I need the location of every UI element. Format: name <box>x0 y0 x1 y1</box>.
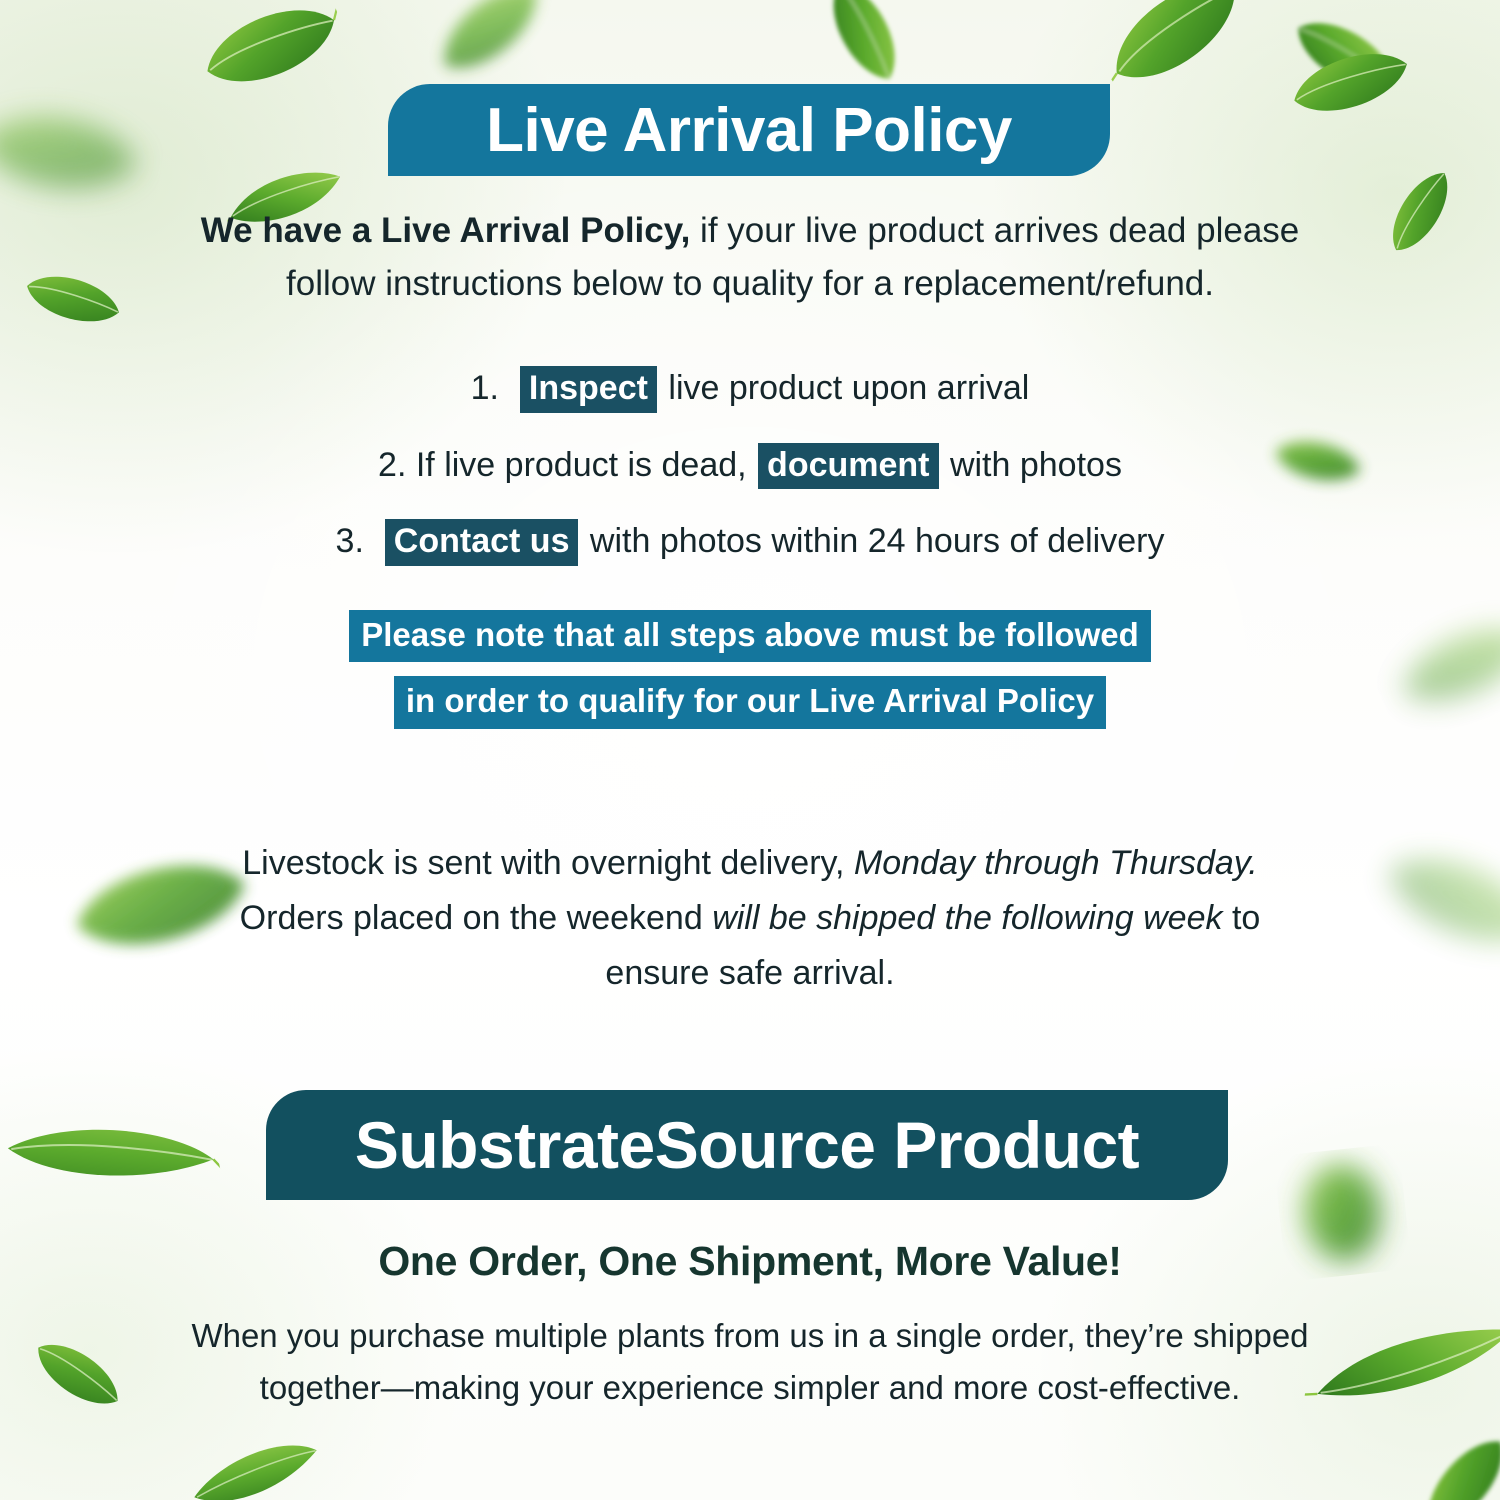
policy-note-row-1: Please note that all steps above must be… <box>150 610 1350 662</box>
shipping-seg-1: Livestock is sent with overnight deliver… <box>242 844 854 882</box>
shipping-paragraph: Livestock is sent with overnight deliver… <box>200 836 1300 1001</box>
policy-note-line-2: in order to qualify for our Live Arrival… <box>394 676 1106 728</box>
step-3: 3. Contact us with photos within 24 hour… <box>150 519 1350 566</box>
shipping-emphasis-1: Monday through Thursday. <box>854 844 1258 882</box>
step-2-before: If live product is dead, <box>406 446 756 484</box>
intro-paragraph: We have a Live Arrival Policy, if your l… <box>170 204 1330 310</box>
step-2-number: 2. <box>378 446 406 484</box>
step-3-after: with photos within 24 hours of delivery <box>580 522 1164 560</box>
value-tagline: One Order, One Shipment, More Value! <box>200 1238 1300 1285</box>
step-2-highlight-document: document <box>758 443 938 490</box>
substratesource-product-banner: SubstrateSource Product <box>266 1090 1228 1200</box>
shipping-emphasis-2: will be shipped the following week <box>712 899 1222 937</box>
policy-note-row-2: in order to qualify for our Live Arrival… <box>150 676 1350 728</box>
content-layer: Live Arrival Policy We have a Live Arriv… <box>0 0 1500 1500</box>
policy-note-block: Please note that all steps above must be… <box>150 610 1350 743</box>
closing-paragraph: When you purchase multiple plants from u… <box>190 1310 1310 1414</box>
steps-list: 1. Inspect live product upon arrival 2. … <box>150 366 1350 596</box>
live-arrival-policy-title: Live Arrival Policy <box>486 95 1012 166</box>
step-3-number: 3. <box>336 522 364 560</box>
shipping-seg-2: Orders placed on the weekend <box>240 899 713 937</box>
step-2-after: with photos <box>941 446 1122 484</box>
intro-bold-lead: We have a Live Arrival Policy, <box>201 211 691 250</box>
live-arrival-policy-infographic: Live Arrival Policy We have a Live Arriv… <box>0 0 1500 1500</box>
step-1-after: live product upon arrival <box>659 369 1029 407</box>
step-1-number: 1. <box>471 369 499 407</box>
step-3-highlight-contact-us: Contact us <box>385 519 579 566</box>
step-1: 1. Inspect live product upon arrival <box>150 366 1350 413</box>
policy-note-line-1: Please note that all steps above must be… <box>349 610 1151 662</box>
substratesource-product-title: SubstrateSource Product <box>355 1107 1139 1183</box>
step-2: 2. If live product is dead, document wit… <box>150 443 1350 490</box>
step-1-highlight-inspect: Inspect <box>520 366 657 413</box>
live-arrival-policy-banner: Live Arrival Policy <box>388 84 1110 176</box>
